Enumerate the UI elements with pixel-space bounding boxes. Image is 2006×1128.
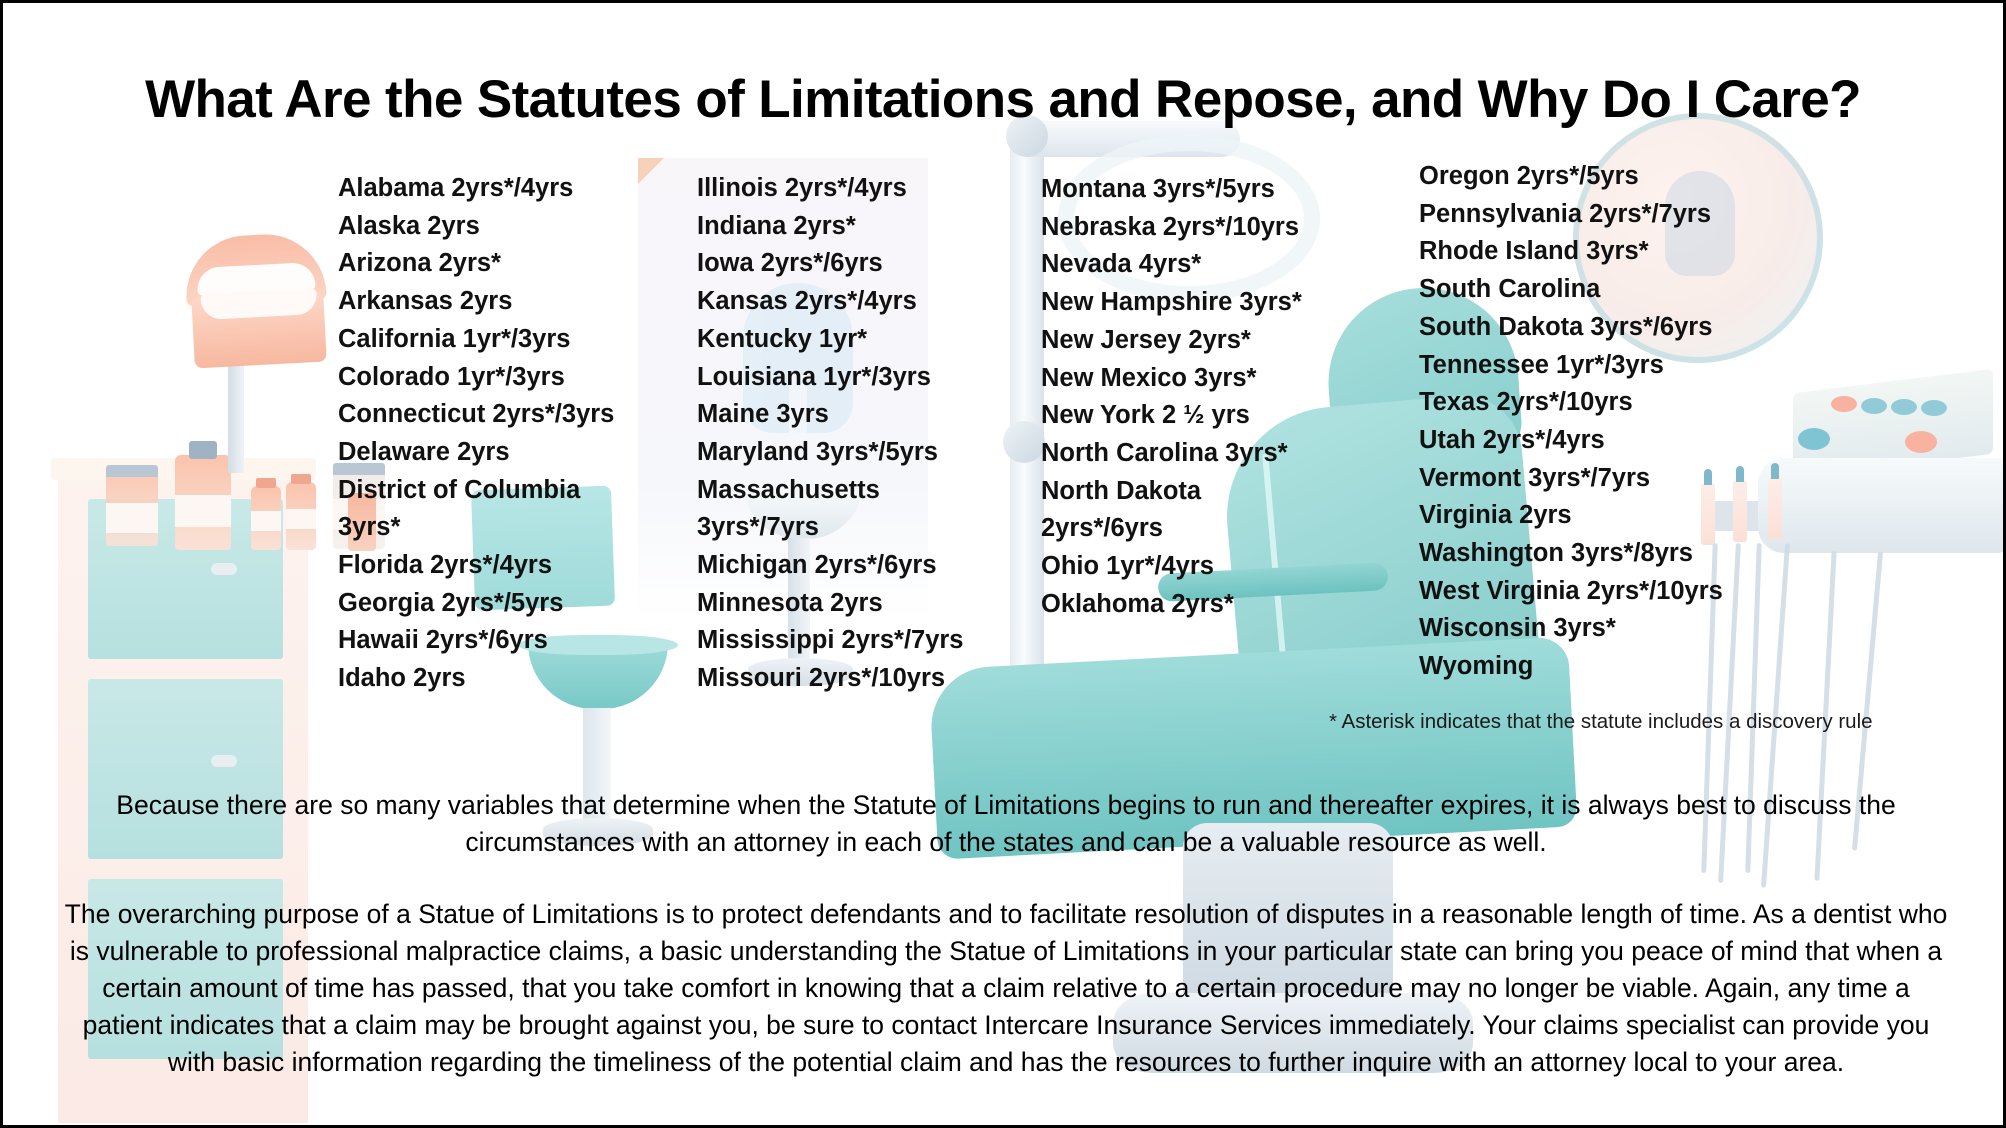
state-column-3: Montana 3yrs*/5yrs Nebraska 2yrs*/10yrs … <box>1041 171 1341 623</box>
asterisk-footnote: * Asterisk indicates that the statute in… <box>1329 710 1969 734</box>
state-column-4: Oregon 2yrs*/5yrs Pennsylvania 2yrs*/7yr… <box>1419 158 1759 686</box>
state-column-1: Alabama 2yrs*/4yrs Alaska 2yrs Arizona 2… <box>338 170 668 698</box>
infographic-poster: What Are the Statutes of Limitations and… <box>0 0 2006 1128</box>
state-column-2: Illinois 2yrs*/4yrs Indiana 2yrs* Iowa 2… <box>697 170 1027 698</box>
paragraph-purpose: The overarching purpose of a Statue of L… <box>61 896 1951 1081</box>
poster-content: What Are the Statutes of Limitations and… <box>3 3 2003 1125</box>
state-statutes-list: Alabama 2yrs*/4yrs Alaska 2yrs Arizona 2… <box>3 3 2003 763</box>
paragraph-variables: Because there are so many variables that… <box>63 787 1949 861</box>
